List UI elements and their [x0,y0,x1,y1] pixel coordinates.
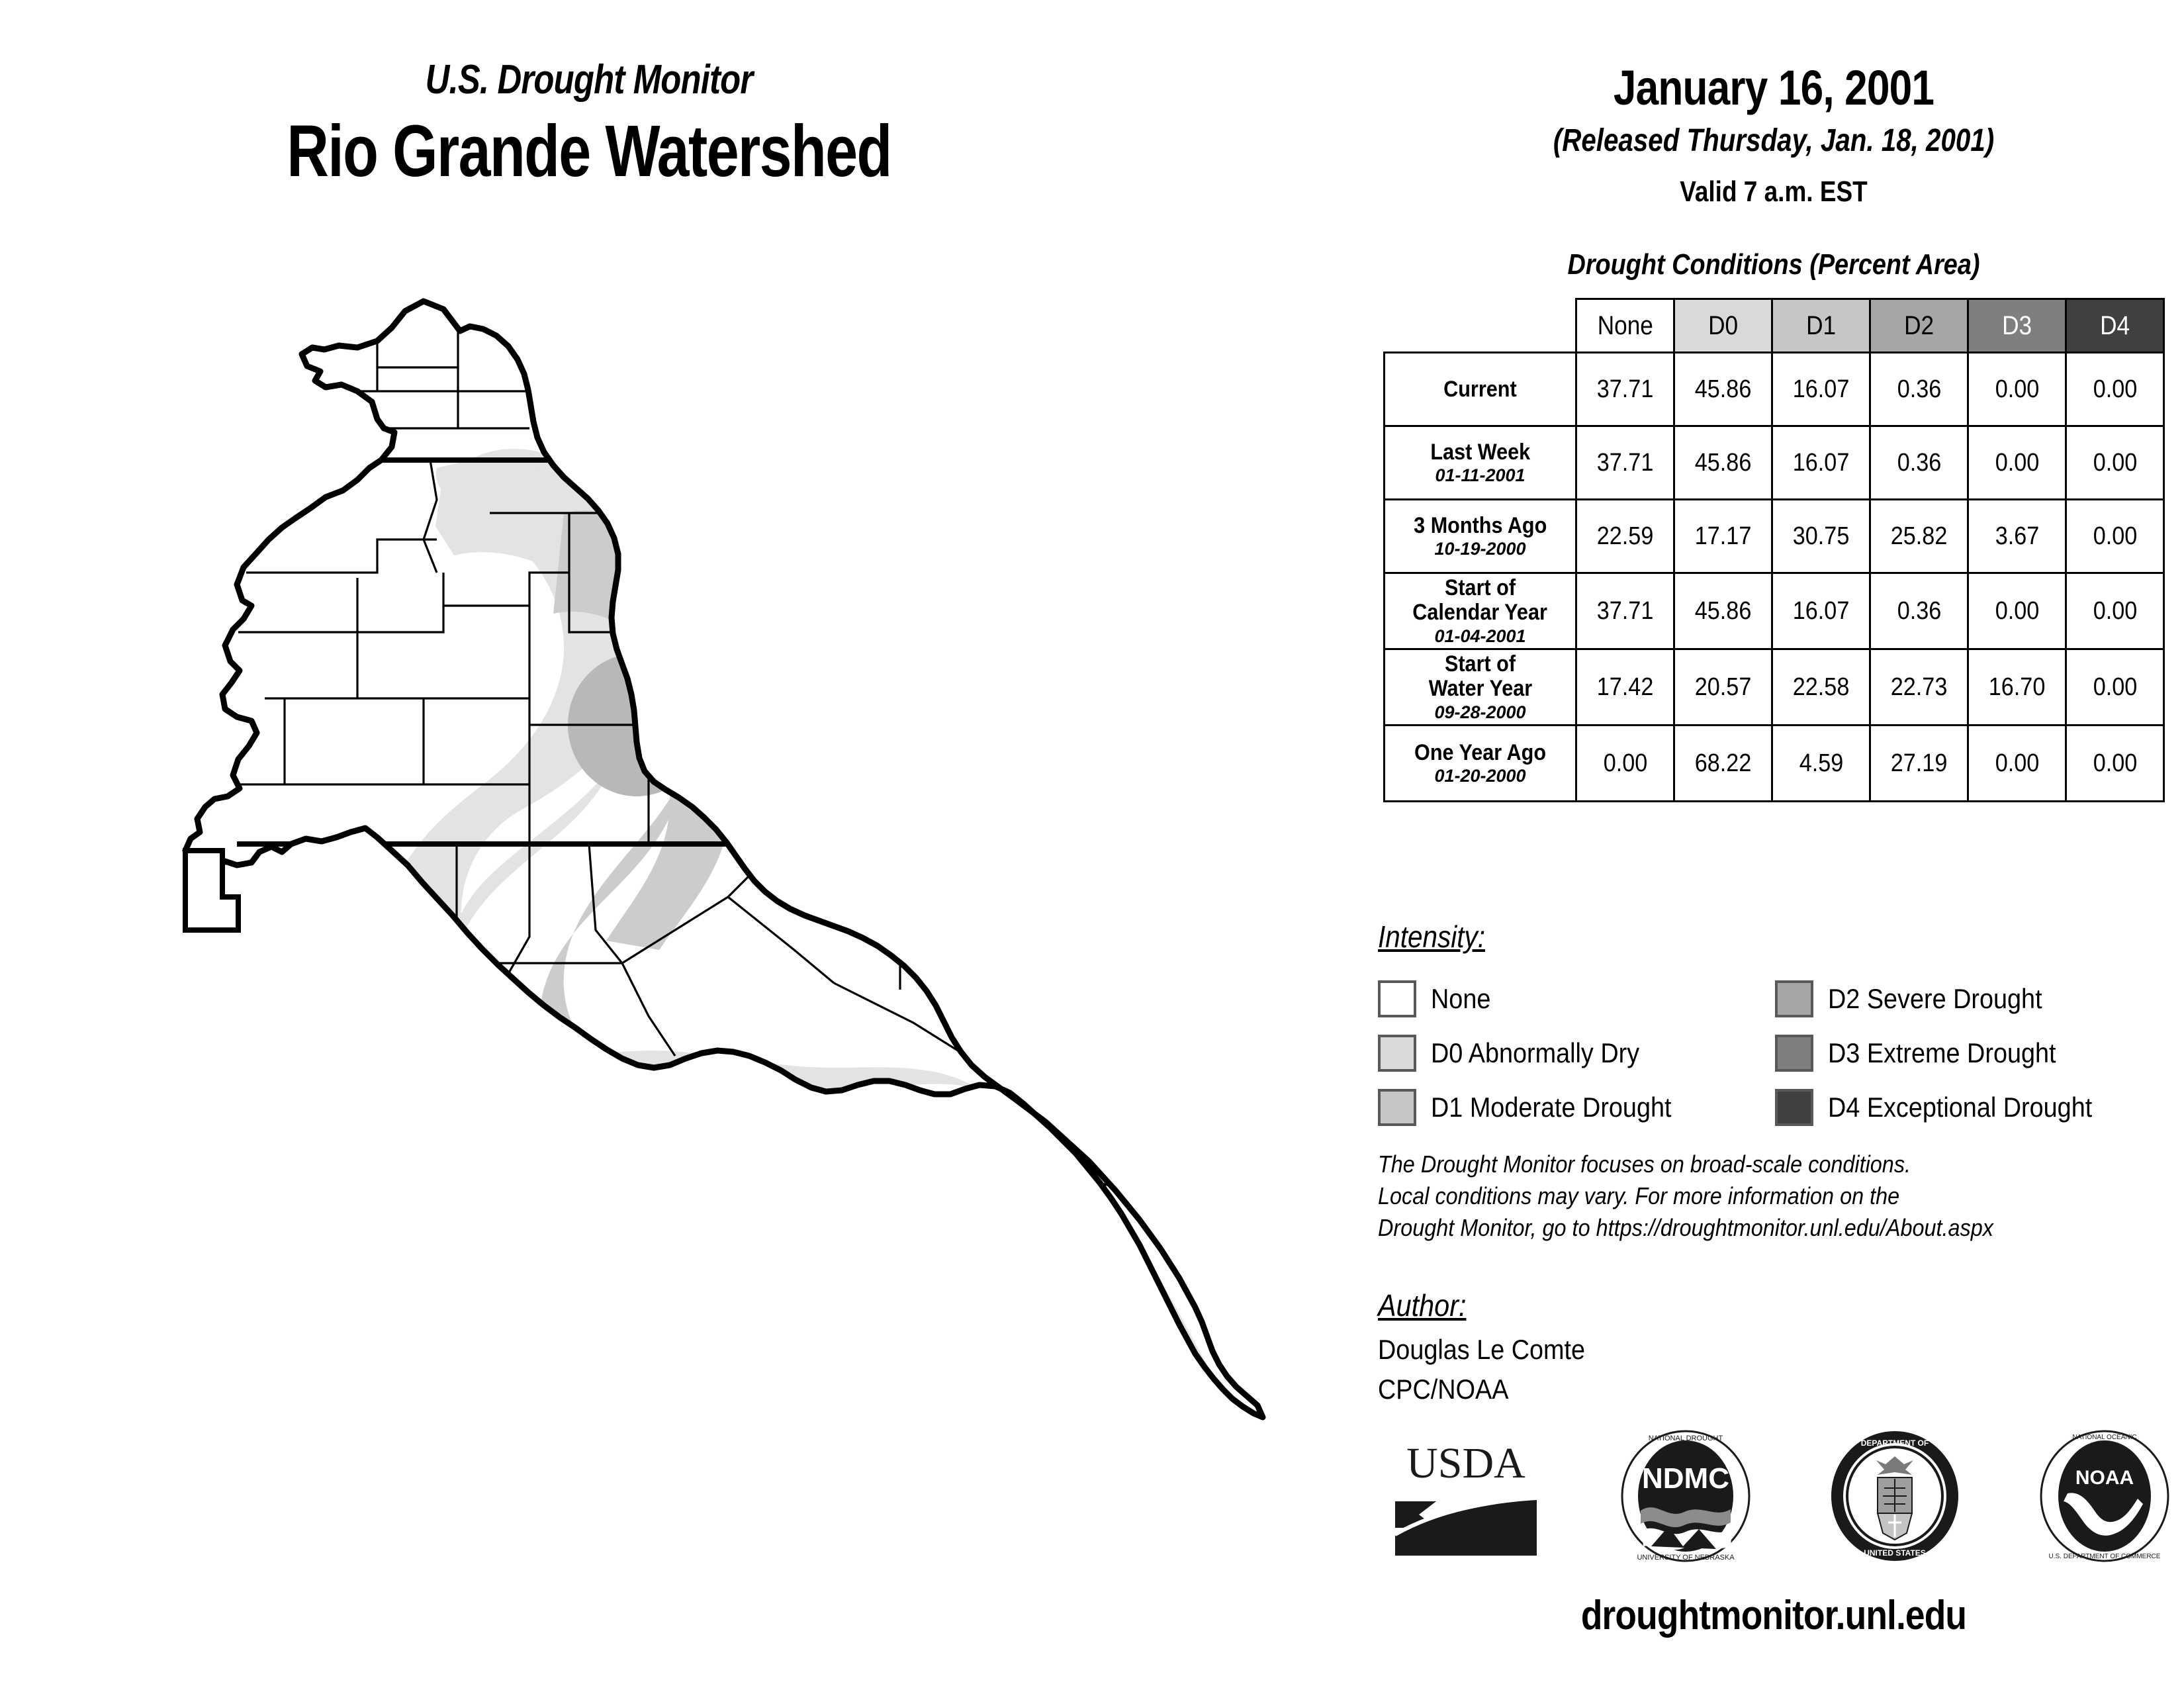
ndmc-logo: NDMC NATIONAL DROUGHT UNIVERSITY OF NEBR… [1619,1430,1752,1562]
cell-d3: 0.00 [1968,426,2066,500]
table-corner [1385,299,1576,353]
legend-row: None D2 Severe Drought [1378,972,2172,1026]
cell-d1: 16.07 [1772,573,1870,649]
disclaimer-line-1: The Drought Monitor focuses on broad-sca… [1378,1149,2093,1180]
cell-d3: 16.70 [1968,649,2066,726]
page-subtitle: U.S. Drought Monitor [106,56,1072,103]
cell-d3: 0.00 [1968,573,2066,649]
legend-item-d3: D3 Extreme Drought [1775,1035,2172,1072]
row-label-start-of-water-year: Start of Water Year 09-28-2000 [1385,649,1576,726]
author-heading: Author: [1378,1288,1466,1323]
table-row: Current 37.71 45.86 16.07 0.36 0.00 0.00 [1385,353,2164,426]
legend-heading: Intensity: [1378,919,1485,955]
release-date: (Released Thursday, Jan. 18, 2001) [1429,122,2118,159]
svg-text:UNIVERSITY OF NEBRASKA: UNIVERSITY OF NEBRASKA [1637,1554,1735,1562]
cell-d1: 16.07 [1772,426,1870,500]
cell-d0: 45.86 [1674,353,1772,426]
cell-d1: 22.58 [1772,649,1870,726]
cell-d0: 68.22 [1674,726,1772,802]
table-row: One Year Ago 01-20-2000 0.00 68.22 4.59 … [1385,726,2164,802]
cell-d0: 45.86 [1674,426,1772,500]
legend-item-d0: D0 Abnormally Dry [1378,1035,1775,1072]
doc-seal: DEPARTMENT OF UNITED STATES [1829,1430,1961,1562]
row-date: 01-04-2001 [1385,627,1575,646]
legend-item-d4: D4 Exceptional Drought [1775,1089,2172,1126]
cell-d4: 0.00 [2066,649,2164,726]
swatch-d1-icon [1378,1089,1416,1126]
svg-text:UNITED STATES: UNITED STATES [1864,1548,1927,1558]
row-label-one-year-ago: One Year Ago 01-20-2000 [1385,726,1576,802]
cell-d4: 0.00 [2066,500,2164,573]
swatch-d4-icon [1775,1089,1813,1126]
column-header-d4: D4 [2066,299,2164,353]
map-region-none [159,261,1297,1625]
cell-d2: 27.19 [1870,726,1968,802]
intensity-legend: None D2 Severe Drought D0 Abnormally Dry… [1378,972,2172,1135]
cell-d2: 0.36 [1870,426,1968,500]
author-name: Douglas Le Comte [1378,1334,1585,1366]
cell-d4: 0.00 [2066,426,2164,500]
svg-text:NOAA: NOAA [2075,1467,2134,1489]
disclaimer-text: The Drought Monitor focuses on broad-sca… [1378,1149,2172,1244]
cell-d4: 0.00 [2066,726,2164,802]
table-row: Last Week 01-11-2001 37.71 45.86 16.07 0… [1385,426,2164,500]
usda-logo: USDA [1390,1430,1542,1562]
disclaimer-line-3[interactable]: Drought Monitor, go to https://droughtmo… [1378,1212,2093,1244]
cell-d0: 45.86 [1674,573,1772,649]
table-caption: Drought Conditions (Percent Area) [1421,248,2126,281]
svg-text:DEPARTMENT OF: DEPARTMENT OF [1861,1438,1929,1448]
column-header-d0: D0 [1674,299,1772,353]
swatch-none-icon [1378,980,1416,1017]
cell-none: 17.42 [1576,649,1674,726]
row-label-start-of-calendar-year: Start of Calendar Year 01-04-2001 [1385,573,1576,649]
map-region-d1-tail [1083,1321,1260,1497]
column-header-d3: D3 [1968,299,2066,353]
row-date: 10-19-2000 [1385,539,1575,559]
cell-d1: 16.07 [1772,353,1870,426]
author-org: CPC/NOAA [1378,1374,1508,1405]
cell-d2: 22.73 [1870,649,1968,726]
row-date: 01-11-2001 [1385,466,1575,485]
swatch-d0-icon [1378,1035,1416,1072]
row-date: 01-20-2000 [1385,767,1575,786]
row-label-last-week: Last Week 01-11-2001 [1385,426,1576,500]
legend-item-none: None [1378,980,1775,1017]
cell-none: 22.59 [1576,500,1674,573]
table-row: Start of Water Year 09-28-2000 17.42 20.… [1385,649,2164,726]
table-row: Start of Calendar Year 01-04-2001 37.71 … [1385,573,2164,649]
cell-none: 37.71 [1576,573,1674,649]
valid-time: Valid 7 a.m. EST [1429,175,2118,209]
svg-text:NATIONAL DROUGHT: NATIONAL DROUGHT [1648,1434,1723,1442]
drought-monitor-page: U.S. Drought Monitor Rio Grande Watershe… [0,0,2184,1688]
cell-d0: 20.57 [1674,649,1772,726]
cell-d0: 17.17 [1674,500,1772,573]
cell-d4: 0.00 [2066,573,2164,649]
svg-text:NATIONAL OCEANIC: NATIONAL OCEANIC [2072,1434,2136,1441]
column-header-d1: D1 [1772,299,1870,353]
cell-none: 37.71 [1576,353,1674,426]
cell-d1: 30.75 [1772,500,1870,573]
legend-row: D0 Abnormally Dry D3 Extreme Drought [1378,1026,2172,1080]
column-header-d2: D2 [1870,299,1968,353]
legend-item-d2: D2 Severe Drought [1775,980,2172,1017]
valid-date: January 16, 2001 [1429,60,2118,116]
cell-none: 0.00 [1576,726,1674,802]
swatch-d3-icon [1775,1035,1813,1072]
cell-d2: 0.36 [1870,353,1968,426]
row-label-current: Current [1385,353,1576,426]
svg-text:NDMC: NDMC [1642,1462,1729,1495]
info-panel: January 16, 2001 (Released Thursday, Jan… [1363,0,2184,1688]
cell-d3: 3.67 [1968,500,2066,573]
cell-d4: 0.00 [2066,353,2164,426]
disclaimer-line-2: Local conditions may vary. For more info… [1378,1180,2093,1212]
cell-d3: 0.00 [1968,726,2066,802]
row-date: 09-28-2000 [1385,703,1575,722]
svg-text:U.S. DEPARTMENT OF COMMERCE: U.S. DEPARTMENT OF COMMERCE [2049,1553,2161,1560]
table-row: 3 Months Ago 10-19-2000 22.59 17.17 30.7… [1385,500,2164,573]
legend-item-d1: D1 Moderate Drought [1378,1089,1775,1126]
swatch-d2-icon [1775,980,1813,1017]
row-label-3-months-ago: 3 Months Ago 10-19-2000 [1385,500,1576,573]
watershed-map[interactable] [159,261,1297,1625]
cell-d2: 0.36 [1870,573,1968,649]
svg-text:USDA: USDA [1406,1439,1525,1487]
drought-conditions-table: None D0 D1 D2 D3 D4 Current 37.71 45.86 … [1383,298,2165,802]
map-panel: U.S. Drought Monitor Rio Grande Watershe… [0,0,1363,1688]
cell-none: 37.71 [1576,426,1674,500]
page-title: Rio Grande Watershed [118,109,1060,193]
legend-row: D1 Moderate Drought D4 Exceptional Droug… [1378,1080,2172,1135]
website-url[interactable]: droughtmonitor.unl.edu [1421,1592,2126,1639]
cell-d2: 25.82 [1870,500,1968,573]
column-header-none: None [1576,299,1674,353]
table-header-row: None D0 D1 D2 D3 D4 [1385,299,2164,353]
cell-d3: 0.00 [1968,353,2066,426]
noaa-logo: NOAA NATIONAL OCEANIC U.S. DEPARTMENT OF… [2038,1430,2171,1562]
cell-d1: 4.59 [1772,726,1870,802]
agency-logos: USDA NDMC NATIONAL DROUGHT UNIVERSITY OF… [1390,1427,2171,1566]
